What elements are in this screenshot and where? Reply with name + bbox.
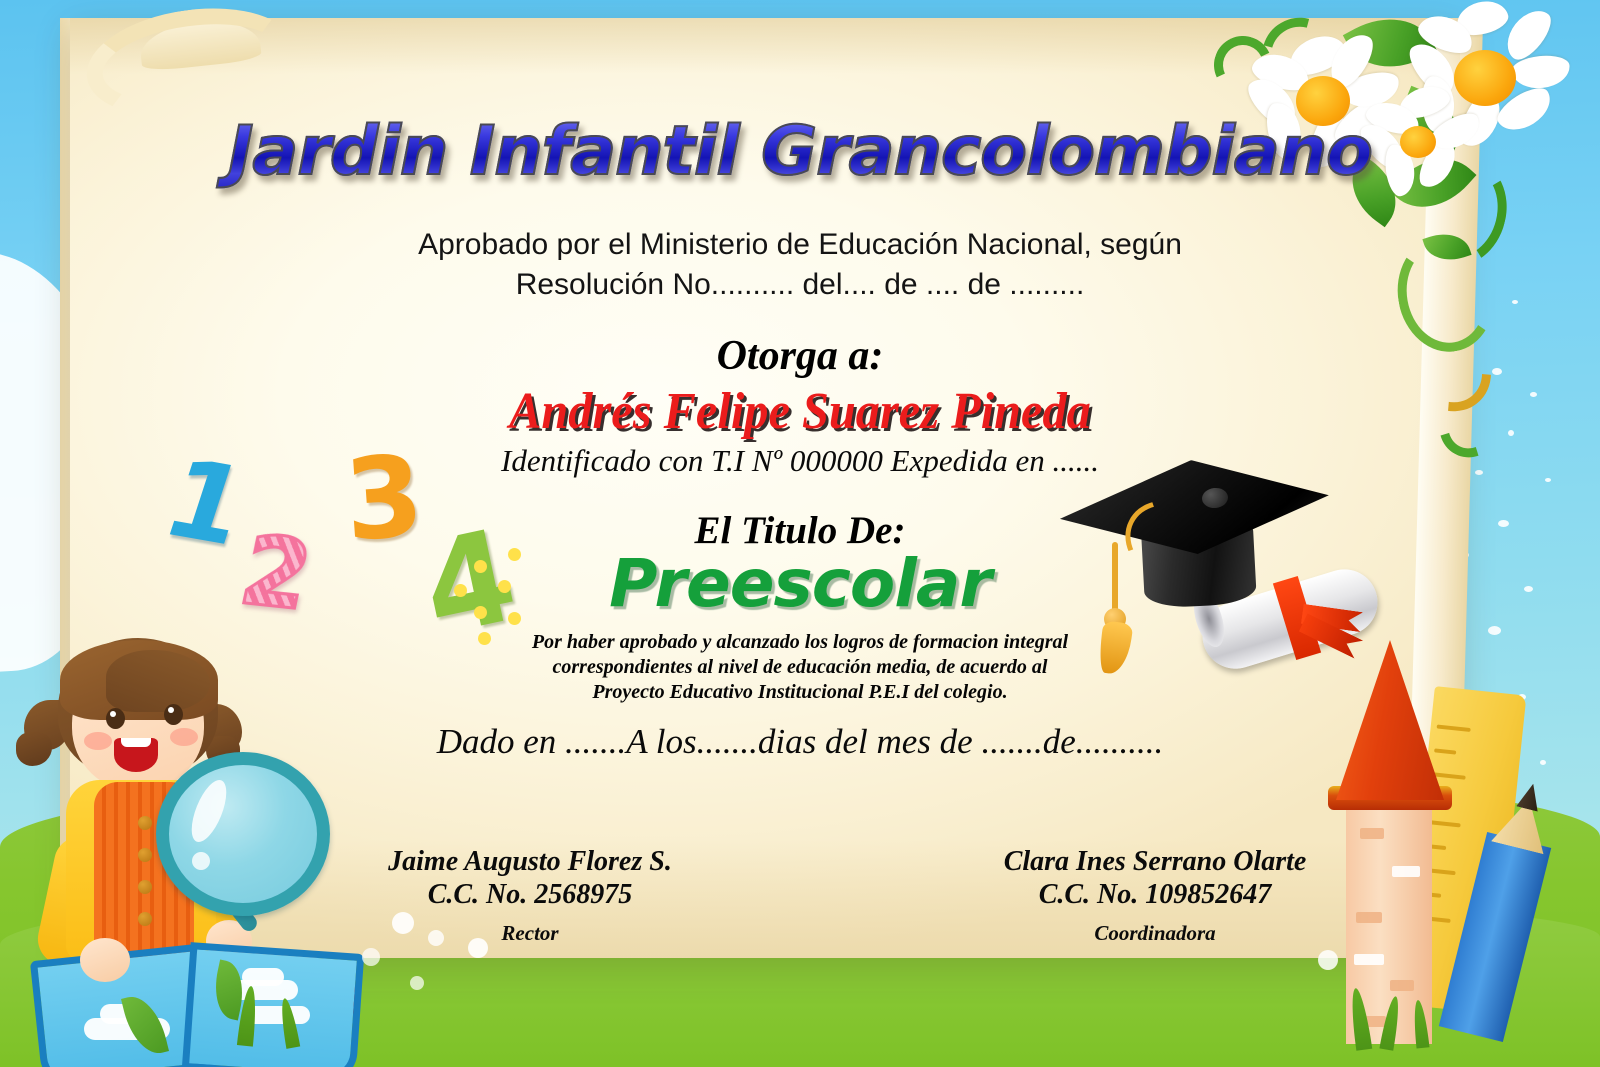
rationale-statement: Por haber aprobado y alcanzado los logro…	[0, 630, 1600, 705]
signature-role: Coordinadora	[930, 921, 1380, 946]
signature-id: C.C. No. 2568975	[330, 878, 730, 912]
signature-id: C.C. No. 109852647	[930, 878, 1380, 912]
certificate-canvas: 1 2 3 4	[0, 0, 1600, 1067]
identification-line: Identificado con T.I Nº 000000 Expedida …	[0, 443, 1600, 479]
student-name: Andrés Felipe Suarez Pineda	[56, 382, 1544, 441]
signature-name: Clara Ines Serrano Olarte	[930, 845, 1380, 878]
approval-statement: Aprobado por el Ministerio de Educación …	[0, 225, 1600, 304]
rationale-line-1: Por haber aprobado y alcanzado los logro…	[0, 630, 1600, 655]
award-label: Otorga a:	[0, 332, 1600, 380]
signature-name: Jaime Augusto Florez S.	[330, 845, 730, 878]
signature-role: Rector	[330, 921, 730, 946]
certificate-text: Jardin Infantil Grancolombiano Aprobado …	[0, 0, 1600, 1067]
degree-name: Preescolar	[0, 545, 1600, 622]
rationale-line-2: correspondientes al nivel de educación m…	[0, 655, 1600, 680]
date-line: Dado en .......A los.......dias del mes …	[0, 722, 1600, 762]
approval-line-2: Resolución No.......... del.... de .... …	[0, 265, 1600, 305]
signature-block-coordinadora: Clara Ines Serrano Olarte C.C. No. 10985…	[930, 845, 1380, 946]
approval-line-1: Aprobado por el Ministerio de Educación …	[0, 225, 1600, 265]
page-title: Jardin Infantil Grancolombiano	[0, 112, 1600, 191]
signature-block-rector: Jaime Augusto Florez S. C.C. No. 2568975…	[330, 845, 730, 946]
rationale-line-3: Proyecto Educativo Institucional P.E.I d…	[0, 680, 1600, 705]
